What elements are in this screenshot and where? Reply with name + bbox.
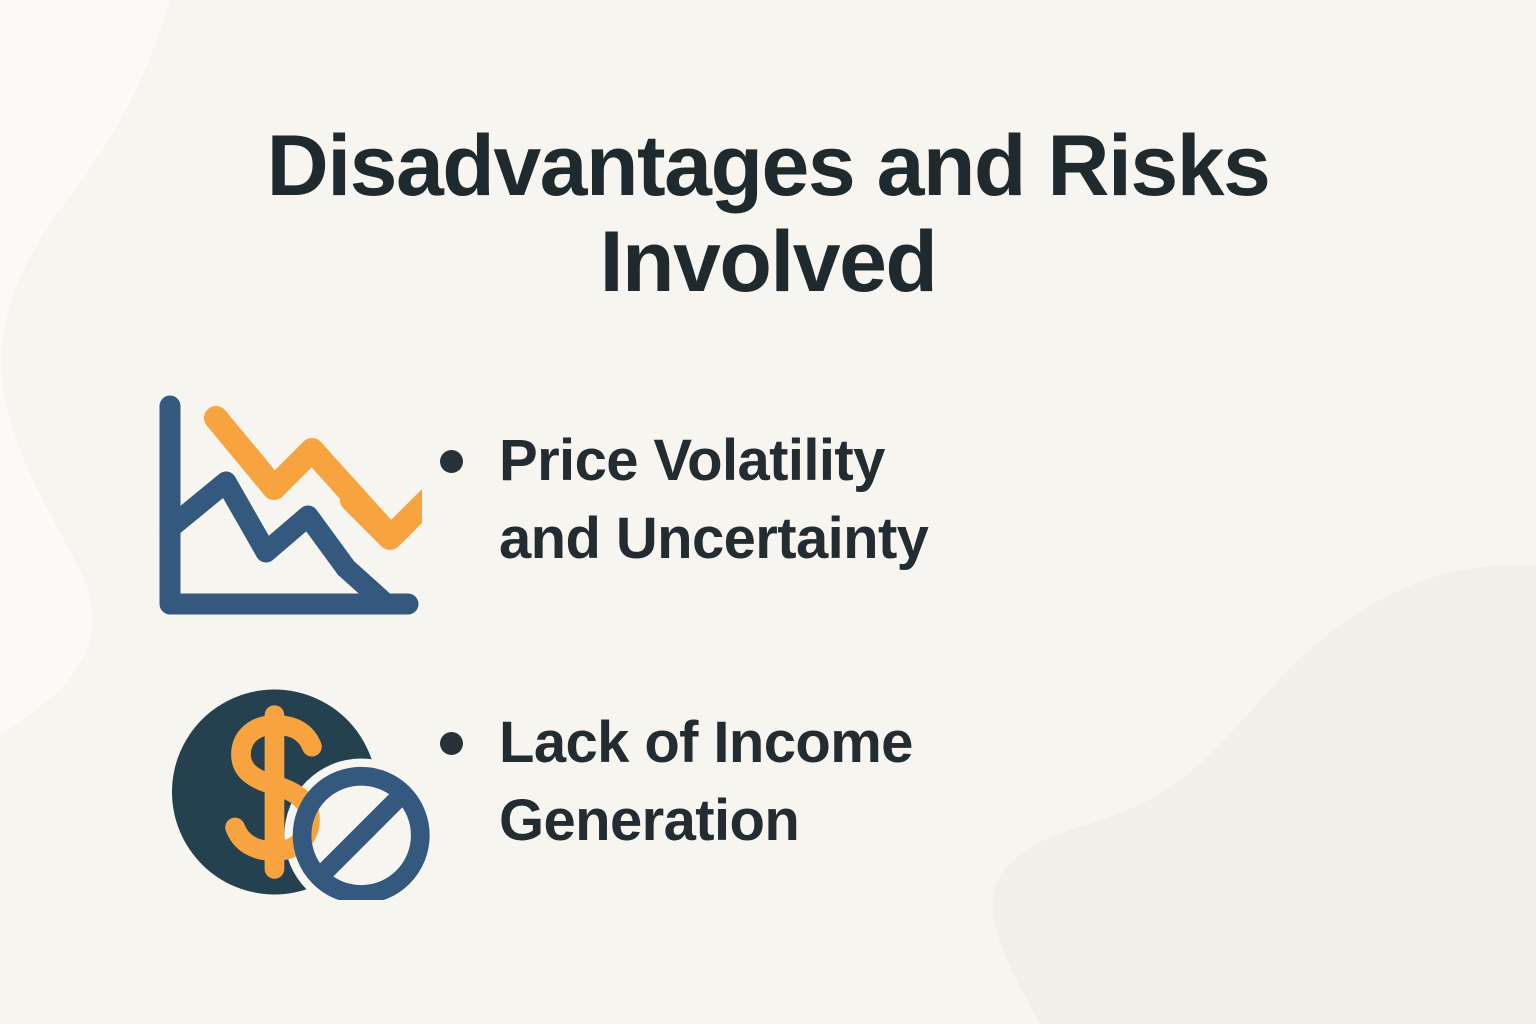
no-dollar-income-icon [172,684,440,900]
list-item: Lack of Income Generation [0,662,1536,932]
slide-canvas: Disadvantages and Risks Involved Price V… [0,0,1536,1024]
declining-chart-icon [150,392,422,624]
list-item: Price Volatility and Uncertainty [0,392,1536,662]
content-rows: Price Volatility and Uncertainty [0,392,1536,932]
list-item-label: Price Volatility and Uncertainty [499,422,928,577]
title-container: Disadvantages and Risks Involved [0,118,1536,311]
page-title: Disadvantages and Risks Involved [0,118,1536,311]
text-cell: Lack of Income Generation [440,662,913,859]
list-item-label: Lack of Income Generation [499,704,913,859]
text-cell: Price Volatility and Uncertainty [440,392,928,577]
bullet-marker [440,732,463,755]
icon-cell [0,392,440,624]
bullet-marker [440,450,463,473]
icon-cell [0,662,440,900]
